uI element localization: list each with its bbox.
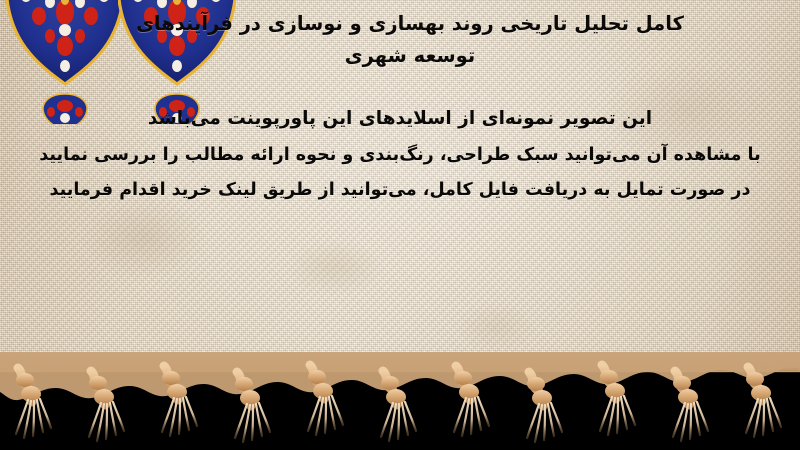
slide-title-line-1: کامل تحلیل تاریخی روند بهسازی و نوسازی د… xyxy=(136,12,684,35)
presentation-slide: کامل تحلیل تاریخی روند بهسازی و نوسازی د… xyxy=(0,0,800,450)
body-line-1: این تصویر نمونه‌ای از اسلایدهای این پاور… xyxy=(0,110,800,129)
carpet-knotted-fringe xyxy=(0,352,800,450)
body-line-2: با مشاهده آن می‌توانید سبک طراحی، رنگ‌بن… xyxy=(0,147,800,165)
slide-text-layer: کامل تحلیل تاریخی روند بهسازی و نوسازی د… xyxy=(0,0,800,372)
slide-body: این تصویر نمونه‌ای از اسلایدهای این پاور… xyxy=(0,110,800,218)
body-line-3: در صورت تمایل به دریافت فایل کامل، می‌تو… xyxy=(0,182,800,200)
slide-title: کامل تحلیل تاریخی روند بهسازی و نوسازی د… xyxy=(40,8,780,71)
slide-title-line-2: توسعه شهری xyxy=(345,44,475,67)
fringe-tassels-icon xyxy=(0,352,800,450)
